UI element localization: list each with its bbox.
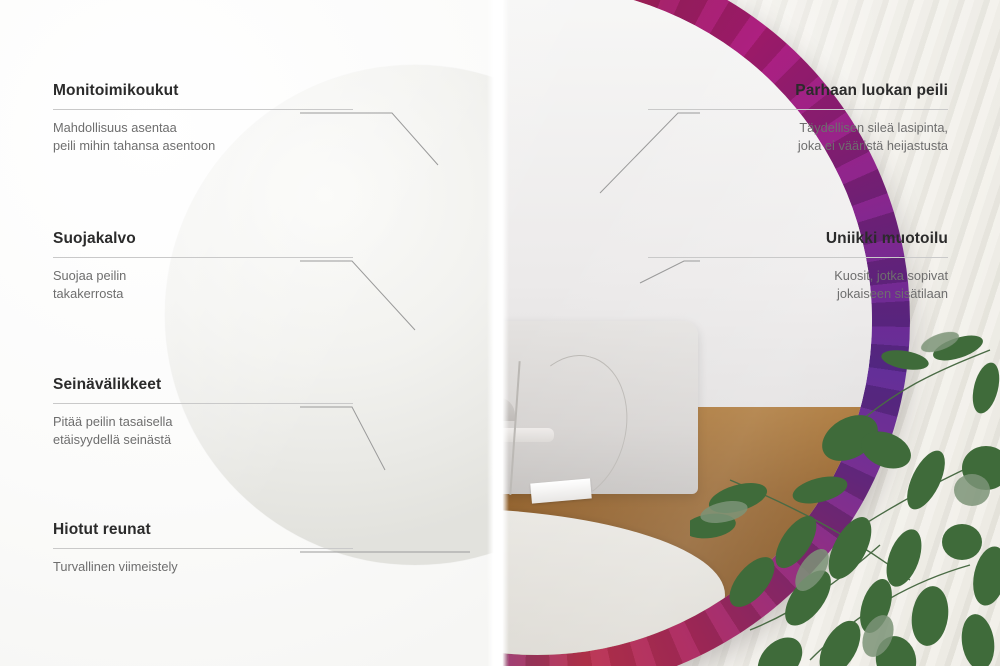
callout-rule [53,257,353,258]
callout-title: Seinävälikkeet [53,376,353,395]
callout-premium-mirror: Parhaan luokan peili Täydellisen sileä l… [648,82,948,156]
callout-hooks: Monitoimikoukut Mahdollisuus asentaa pei… [53,82,353,156]
callout-rule [648,257,948,258]
callout-title: Parhaan luokan peili [648,82,948,101]
callout-rule [53,109,353,110]
callout-desc: Täydellisen sileä lasipinta, joka ei vää… [648,119,948,156]
callout-protective-film: Suojakalvo Suojaa peilin takakerrosta [53,230,353,304]
callout-rule [53,403,353,404]
callout-title: Monitoimikoukut [53,82,353,101]
callout-title: Hiotut reunat [53,521,353,540]
callout-title: Uniikki muotoilu [648,230,948,249]
callout-rule [648,109,948,110]
callout-title: Suojakalvo [53,230,353,249]
callout-desc: Turvallinen viimeistely [53,558,353,577]
callout-polished-edges: Hiotut reunat Turvallinen viimeistely [53,521,353,576]
callout-unique-design: Uniikki muotoilu Kuosit, jotka sopivat j… [648,230,948,304]
callout-desc: Pitää peilin tasaisella etäisyydellä sei… [53,413,353,450]
callout-desc: Mahdollisuus asentaa peili mihin tahansa… [53,119,353,156]
callout-desc: Kuosit, jotka sopivat jokaiseen sisätila… [648,267,948,304]
callout-rule [53,548,353,549]
callout-wall-spacers: Seinävälikkeet Pitää peilin tasaisella e… [53,376,353,450]
infographic-canvas: Monitoimikoukut Mahdollisuus asentaa pei… [0,0,1000,666]
callout-desc: Suojaa peilin takakerrosta [53,267,353,304]
